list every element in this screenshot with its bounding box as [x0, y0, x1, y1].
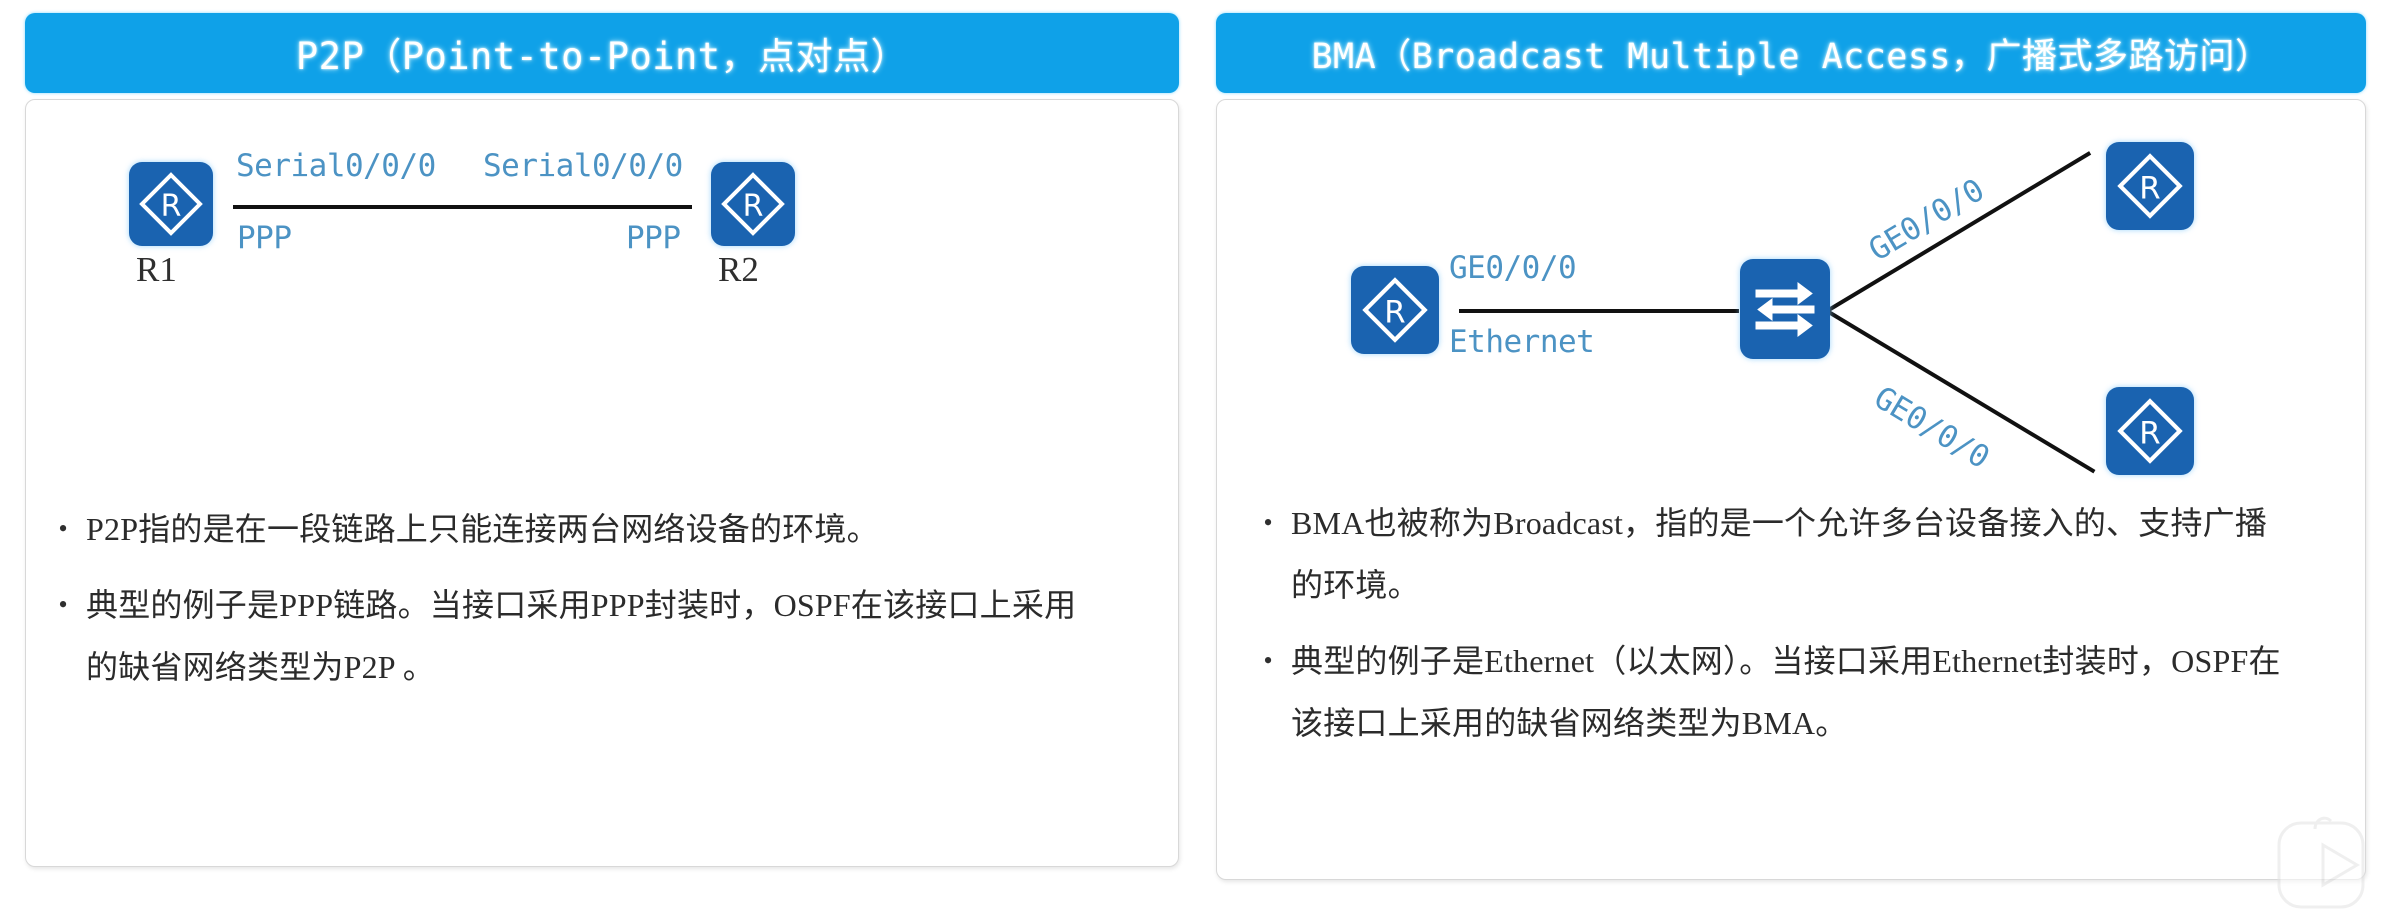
svg-text:R: R — [743, 189, 764, 224]
iface-label-ge-upper-diagonal: GE0/0/0 — [1863, 172, 1991, 268]
bullet-text: 典型的例子是Ethernet（以太网）。当接口采用Ethernet封装时，OSP… — [1291, 630, 2291, 754]
router-r2-label: R2 — [718, 250, 759, 290]
svg-text:R: R — [1384, 294, 1405, 330]
bullet-text: 典型的例子是PPP链路。当接口采用PPP封装时，OSPF在该接口上采用的缺省网络… — [86, 574, 1106, 698]
svg-text:R: R — [2139, 415, 2160, 451]
panel-bma-title: BMA（Broadcast Multiple Access，广播式多路访问） — [1311, 28, 2270, 79]
iface-label-serial-left: Serial0/0/0 — [236, 148, 436, 184]
iface-label-ppp-left: PPP — [237, 220, 292, 256]
link-r1-r2 — [233, 205, 692, 209]
svg-text:R: R — [161, 189, 182, 224]
iface-label-serial-right: Serial0/0/0 — [483, 148, 683, 184]
router-left-icon: R — [1351, 266, 1439, 354]
list-item: • 典型的例子是Ethernet（以太网）。当接口采用Ethernet封装时，O… — [1217, 630, 2365, 754]
bma-topology-diagram: R — [1217, 100, 2365, 500]
switch-center-icon — [1740, 259, 1830, 359]
panel-p2p-title: P2P（Point-to-Point，点对点） — [296, 26, 908, 80]
router-top-right-icon: R — [2106, 142, 2194, 230]
p2p-topology-diagram: R R1 R R2 Serial0/0/0 Serial0/0/0 PPP PP… — [26, 100, 1178, 500]
panel-bma-header: BMA（Broadcast Multiple Access，广播式多路访问） — [1216, 13, 2366, 93]
bma-bullet-list: • BMA也被称为Broadcast，指的是一个允许多台设备接入的、支持广播的环… — [1217, 492, 2365, 768]
play-logo-watermark — [2265, 805, 2373, 913]
iface-label-ethernet: Ethernet — [1449, 324, 1594, 360]
router-r2-icon: R — [711, 162, 795, 246]
bullet-text: P2P指的是在一段链路上只能连接两台网络设备的环境。 — [86, 498, 1106, 560]
router-bottom-right-icon: R — [2106, 387, 2194, 475]
router-r1-label: R1 — [136, 250, 177, 290]
list-item: • P2P指的是在一段链路上只能连接两台网络设备的环境。 — [26, 498, 1178, 560]
link-switch-router-top-right — [1826, 151, 2091, 313]
link-router-left-switch — [1459, 309, 1739, 313]
panel-p2p-header: P2P（Point-to-Point，点对点） — [25, 13, 1179, 93]
panel-bma-body: R — [1216, 99, 2366, 880]
bullet-marker: • — [40, 574, 86, 636]
bullet-marker: • — [1245, 492, 1291, 554]
iface-label-ppp-right: PPP — [626, 220, 681, 256]
slide-canvas: P2P（Point-to-Point，点对点） R R1 — [0, 0, 2394, 892]
bullet-marker: • — [40, 498, 86, 560]
iface-label-ge-left: GE0/0/0 — [1449, 250, 1576, 286]
iface-label-ge-lower-diagonal: GE0/0/0 — [1868, 380, 1996, 476]
router-r1-icon: R — [129, 162, 213, 246]
svg-text:R: R — [2139, 170, 2160, 206]
bullet-marker: • — [1245, 630, 1291, 692]
bullet-text: BMA也被称为Broadcast，指的是一个允许多台设备接入的、支持广播的环境。 — [1291, 492, 2291, 616]
list-item: • BMA也被称为Broadcast，指的是一个允许多台设备接入的、支持广播的环… — [1217, 492, 2365, 616]
panel-p2p-body: R R1 R R2 Serial0/0/0 Serial0/0/0 PPP PP… — [25, 99, 1179, 867]
list-item: • 典型的例子是PPP链路。当接口采用PPP封装时，OSPF在该接口上采用的缺省… — [26, 574, 1178, 698]
p2p-bullet-list: • P2P指的是在一段链路上只能连接两台网络设备的环境。 • 典型的例子是PPP… — [26, 498, 1178, 712]
